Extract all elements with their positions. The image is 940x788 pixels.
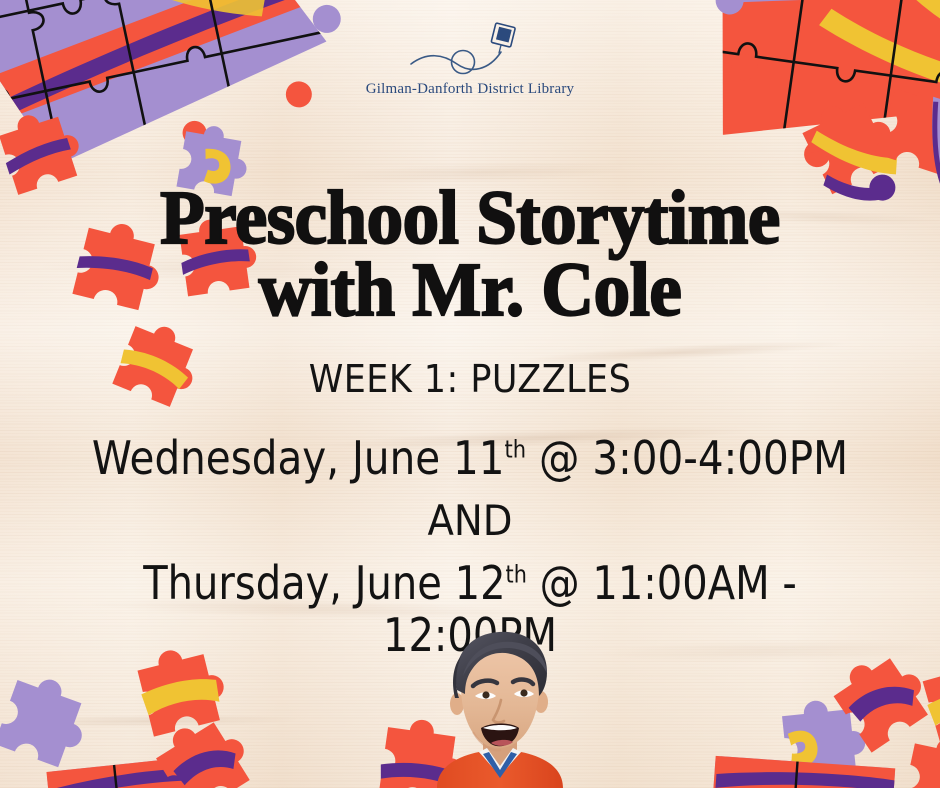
- title-line-2: with Mr. Cole: [19, 254, 921, 326]
- session-one: Wednesday, June 11th @ 3:00-4:00PM: [56, 432, 883, 484]
- presenter-photo: [425, 628, 575, 788]
- puzzle-cluster-bottom-right: [702, 742, 902, 788]
- session-one-day: Wednesday, June 11: [92, 431, 505, 485]
- library-logo: Gilman-Danforth District Library: [0, 20, 940, 98]
- poster-canvas: Gilman-Danforth District Library Prescho…: [0, 0, 940, 788]
- puzzle-piece-purple-yellow: [760, 690, 890, 788]
- title-line-1: Preschool Storytime: [19, 182, 921, 254]
- logo-line-2: District Library: [477, 81, 574, 97]
- logo-line-1: Gilman-Danforth: [366, 81, 473, 97]
- puzzle-piece-stack: [40, 742, 210, 788]
- session-two-ordinal: th: [506, 561, 527, 589]
- puzzle-piece-coral: [882, 730, 940, 788]
- puzzle-piece-purple: [0, 670, 98, 788]
- subtitle: WEEK 1: PUZZLES: [38, 357, 903, 401]
- kite-logo-icon: [405, 20, 535, 78]
- session-one-time: @ 3:00-4:00PM: [526, 431, 848, 485]
- session-one-ordinal: th: [505, 436, 527, 464]
- puzzle-piece-coral-yellow: [908, 650, 940, 768]
- puzzle-piece-coral: [826, 648, 940, 770]
- wood-grain-streak: [0, 713, 300, 728]
- session-two-day: Thursday, June 12: [143, 556, 505, 610]
- page-title: Preschool Storytime with Mr. Cole: [19, 182, 921, 326]
- session-separator: AND: [38, 497, 903, 545]
- puzzle-piece-coral: [148, 712, 273, 788]
